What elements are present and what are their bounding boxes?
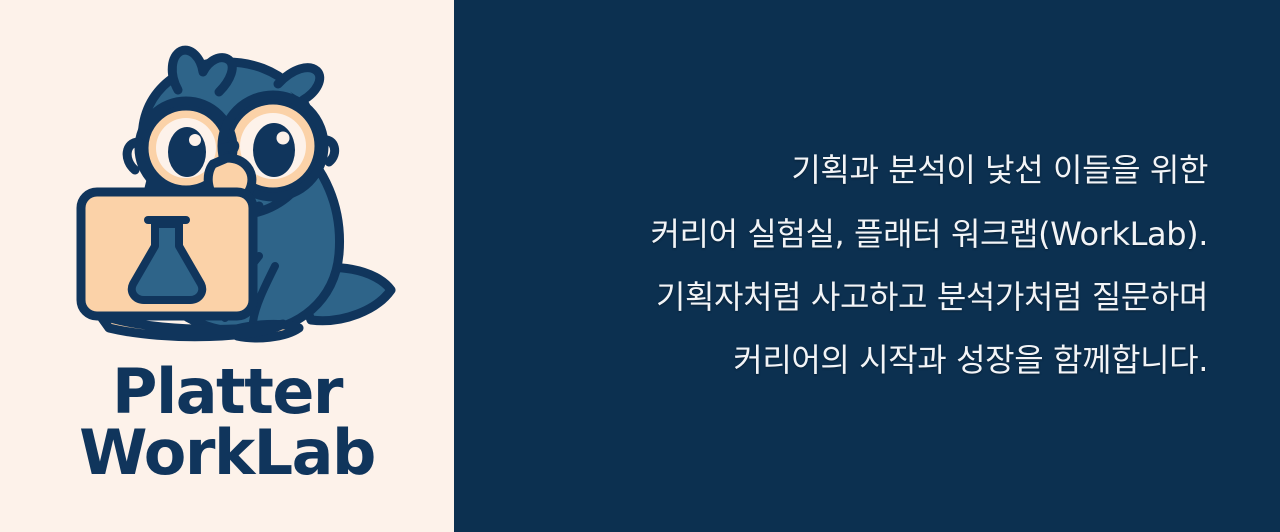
tagline-line-1: 기획과 분석이 낯선 이들을 위한: [651, 139, 1209, 202]
owl-with-laptop-mascot: [47, 38, 407, 368]
wordmark-line-2: WorkLab: [79, 423, 375, 484]
banner-root: Platter WorkLab 기획과 분석이 낯선 이들을 위한 커리어 실험…: [0, 0, 1280, 532]
tagline-line-4: 커리어의 시작과 성장을 함께합니다.: [651, 329, 1209, 392]
tagline-line-2: 커리어 실험실, 플래터 워크랩(WorkLab).: [651, 203, 1209, 266]
brand-panel: Platter WorkLab: [0, 0, 454, 532]
tagline-text: 기획과 분석이 낯선 이들을 위한 커리어 실험실, 플래터 워크랩(WorkL…: [651, 139, 1209, 392]
tagline-panel: 기획과 분석이 낯선 이들을 위한 커리어 실험실, 플래터 워크랩(WorkL…: [454, 0, 1280, 532]
wordmark-line-1: Platter: [79, 362, 375, 423]
tagline-line-3: 기획자처럼 사고하고 분석가처럼 질문하며: [651, 266, 1209, 329]
brand-wordmark: Platter WorkLab: [79, 362, 375, 484]
